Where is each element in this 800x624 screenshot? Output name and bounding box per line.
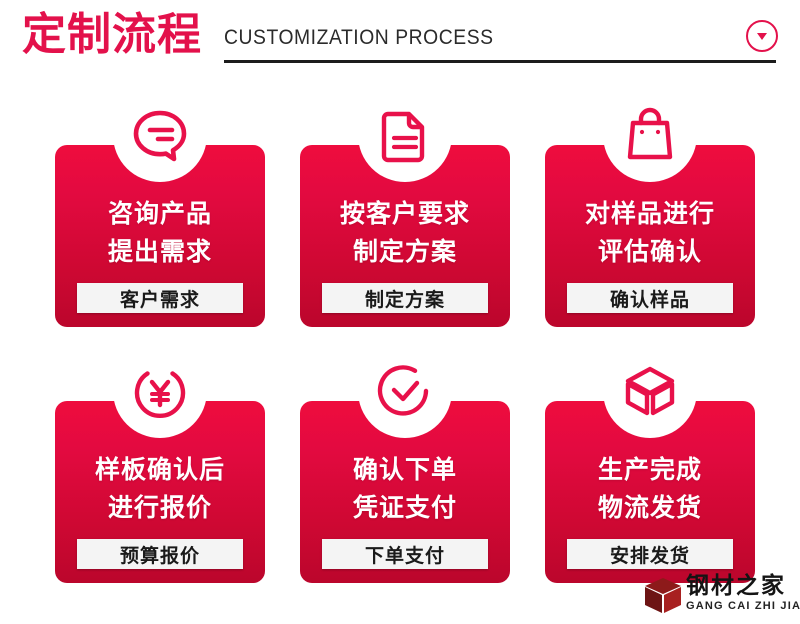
- step-badge: 制定方案: [322, 283, 488, 313]
- process-step-2[interactable]: 按客户要求 制定方案 制定方案: [282, 82, 527, 334]
- chevron-down-icon[interactable]: [746, 20, 778, 52]
- check-circle-icon: [358, 344, 452, 438]
- watermark: 钢材之家 GANG CAI ZHI JIA: [642, 570, 792, 620]
- step-headline: 样板确认后 进行报价: [55, 451, 265, 527]
- step-headline: 按客户要求 制定方案: [300, 195, 510, 271]
- step-headline: 确认下单 凭证支付: [300, 451, 510, 527]
- page-header: 定制流程 CUSTOMIZATION PROCESS: [0, 0, 800, 78]
- process-step-grid: 咨询产品 提出需求 客户需求 按客户要求 制定方案 制定方案: [0, 78, 800, 602]
- step-line-1: 对样品进行: [545, 195, 755, 233]
- process-step-5[interactable]: 确认下单 凭证支付 下单支付: [282, 338, 527, 590]
- customization-process-page: 定制流程 CUSTOMIZATION PROCESS 咨询产品 提出需求 客户需…: [0, 0, 800, 624]
- step-headline: 咨询产品 提出需求: [55, 195, 265, 271]
- step-badge: 确认样品: [567, 283, 733, 313]
- step-line-2: 物流发货: [545, 489, 755, 527]
- step-line-1: 咨询产品: [55, 195, 265, 233]
- cube-box-logo-icon: [642, 576, 684, 621]
- process-step-3[interactable]: 对样品进行 评估确认 确认样品: [527, 82, 772, 334]
- step-badge: 客户需求: [77, 283, 243, 313]
- step-line-2: 凭证支付: [300, 489, 510, 527]
- step-line-1: 样板确认后: [55, 451, 265, 489]
- page-title-cn: 定制流程: [22, 8, 202, 62]
- page-title-en: CUSTOMIZATION PROCESS: [224, 26, 494, 50]
- document-file-icon: [358, 88, 452, 182]
- header-divider: [224, 60, 776, 63]
- step-badge: 安排发货: [567, 539, 733, 569]
- shopping-bag-icon: [603, 88, 697, 182]
- step-headline: 对样品进行 评估确认: [545, 195, 755, 271]
- yen-currency-circle-icon: [113, 344, 207, 438]
- step-line-1: 按客户要求: [300, 195, 510, 233]
- process-step-4[interactable]: 样板确认后 进行报价 预算报价: [37, 338, 282, 590]
- step-headline: 生产完成 物流发货: [545, 451, 755, 527]
- process-step-6[interactable]: 生产完成 物流发货 安排发货: [527, 338, 772, 590]
- watermark-name-en: GANG CAI ZHI JIA: [686, 600, 800, 612]
- step-line-1: 确认下单: [300, 451, 510, 489]
- step-badge: 预算报价: [77, 539, 243, 569]
- step-line-2: 提出需求: [55, 233, 265, 271]
- speech-bubble-chat-icon: [113, 88, 207, 182]
- step-line-2: 制定方案: [300, 233, 510, 271]
- watermark-name-cn: 钢材之家: [686, 572, 786, 599]
- step-line-2: 进行报价: [55, 489, 265, 527]
- step-line-2: 评估确认: [545, 233, 755, 271]
- step-badge: 下单支付: [322, 539, 488, 569]
- step-line-1: 生产完成: [545, 451, 755, 489]
- process-step-1[interactable]: 咨询产品 提出需求 客户需求: [37, 82, 282, 334]
- cube-box-icon: [603, 344, 697, 438]
